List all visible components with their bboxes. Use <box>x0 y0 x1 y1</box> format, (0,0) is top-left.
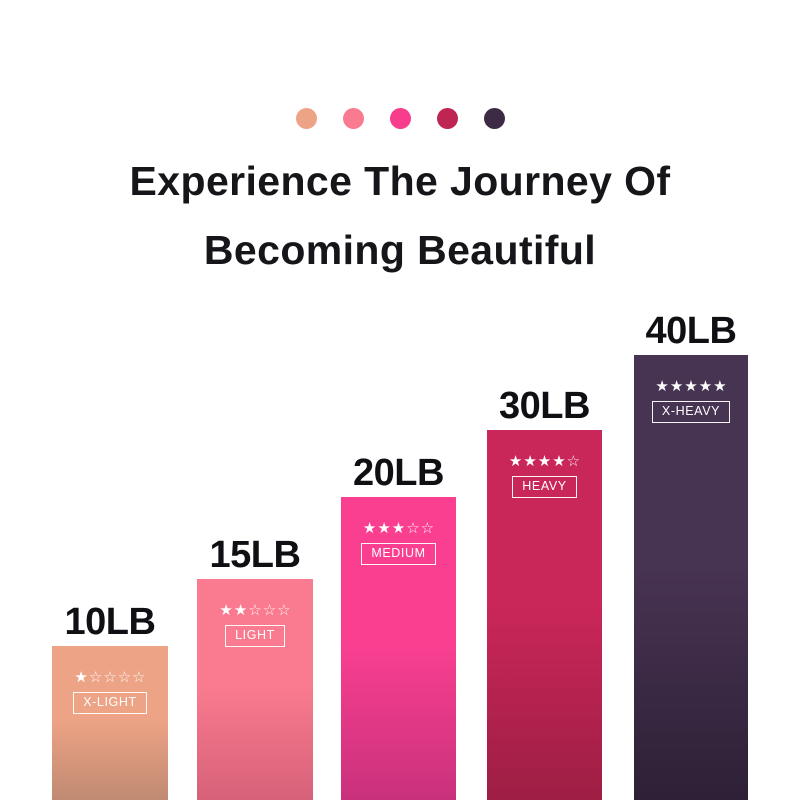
bar-10lb-badge: ★☆☆☆☆X-LIGHT <box>52 670 168 714</box>
star-filled-icon: ★ <box>552 454 565 469</box>
star-filled-icon: ★ <box>392 521 405 536</box>
star-filled-icon: ★ <box>699 379 712 394</box>
bar-15lb[interactable]: 15LB★★☆☆☆LIGHT <box>197 579 313 800</box>
bar-30lb-weight-label: 30LB <box>499 385 590 428</box>
star-filled-icon: ★ <box>363 521 376 536</box>
bar-20lb-weight-label: 20LB <box>353 452 444 495</box>
star-empty-icon: ☆ <box>132 670 145 685</box>
star-empty-icon: ☆ <box>406 521 419 536</box>
star-filled-icon: ★ <box>655 379 668 394</box>
star-filled-icon: ★ <box>219 603 232 618</box>
bar-40lb-weight-label: 40LB <box>646 310 737 353</box>
star-empty-icon: ☆ <box>277 603 290 618</box>
star-empty-icon: ☆ <box>89 670 102 685</box>
star-empty-icon: ☆ <box>248 603 261 618</box>
star-empty-icon: ☆ <box>567 454 580 469</box>
bar-10lb-level-label: X-LIGHT <box>73 692 147 714</box>
bar-15lb-weight-label: 15LB <box>210 534 301 577</box>
bar-30lb-level-label: HEAVY <box>512 476 576 498</box>
star-filled-icon: ★ <box>713 379 726 394</box>
star-empty-icon: ☆ <box>103 670 116 685</box>
bar-15lb-rating-stars: ★★☆☆☆ <box>219 603 290 618</box>
promo-banner: Experience The Journey Of Becoming Beaut… <box>0 0 800 800</box>
bar-10lb[interactable]: 10LB★☆☆☆☆X-LIGHT <box>52 646 168 800</box>
bar-40lb-rating-stars: ★★★★★ <box>655 379 726 394</box>
bar-20lb-badge: ★★★☆☆MEDIUM <box>341 521 456 565</box>
star-filled-icon: ★ <box>74 670 87 685</box>
bar-40lb-badge: ★★★★★X-HEAVY <box>634 379 748 423</box>
bar-30lb-badge: ★★★★☆HEAVY <box>487 454 602 498</box>
star-filled-icon: ★ <box>670 379 683 394</box>
bar-40lb[interactable]: 40LB★★★★★X-HEAVY <box>634 355 748 800</box>
bar-20lb[interactable]: 20LB★★★☆☆MEDIUM <box>341 497 456 800</box>
star-empty-icon: ☆ <box>118 670 131 685</box>
star-filled-icon: ★ <box>523 454 536 469</box>
bar-30lb-rating-stars: ★★★★☆ <box>509 454 580 469</box>
resistance-bar-chart: 10LB★☆☆☆☆X-LIGHT15LB★★☆☆☆LIGHT20LB★★★☆☆M… <box>0 0 800 800</box>
bar-15lb-badge: ★★☆☆☆LIGHT <box>197 603 313 647</box>
bar-15lb-level-label: LIGHT <box>225 625 285 647</box>
bar-30lb[interactable]: 30LB★★★★☆HEAVY <box>487 430 602 800</box>
star-empty-icon: ☆ <box>263 603 276 618</box>
bar-20lb-level-label: MEDIUM <box>361 543 435 565</box>
bar-40lb-level-label: X-HEAVY <box>652 401 730 423</box>
star-filled-icon: ★ <box>377 521 390 536</box>
star-empty-icon: ☆ <box>421 521 434 536</box>
bar-10lb-weight-label: 10LB <box>65 601 156 644</box>
star-filled-icon: ★ <box>509 454 522 469</box>
star-filled-icon: ★ <box>234 603 247 618</box>
star-filled-icon: ★ <box>684 379 697 394</box>
star-filled-icon: ★ <box>538 454 551 469</box>
bar-10lb-rating-stars: ★☆☆☆☆ <box>74 670 145 685</box>
bar-20lb-rating-stars: ★★★☆☆ <box>363 521 434 536</box>
